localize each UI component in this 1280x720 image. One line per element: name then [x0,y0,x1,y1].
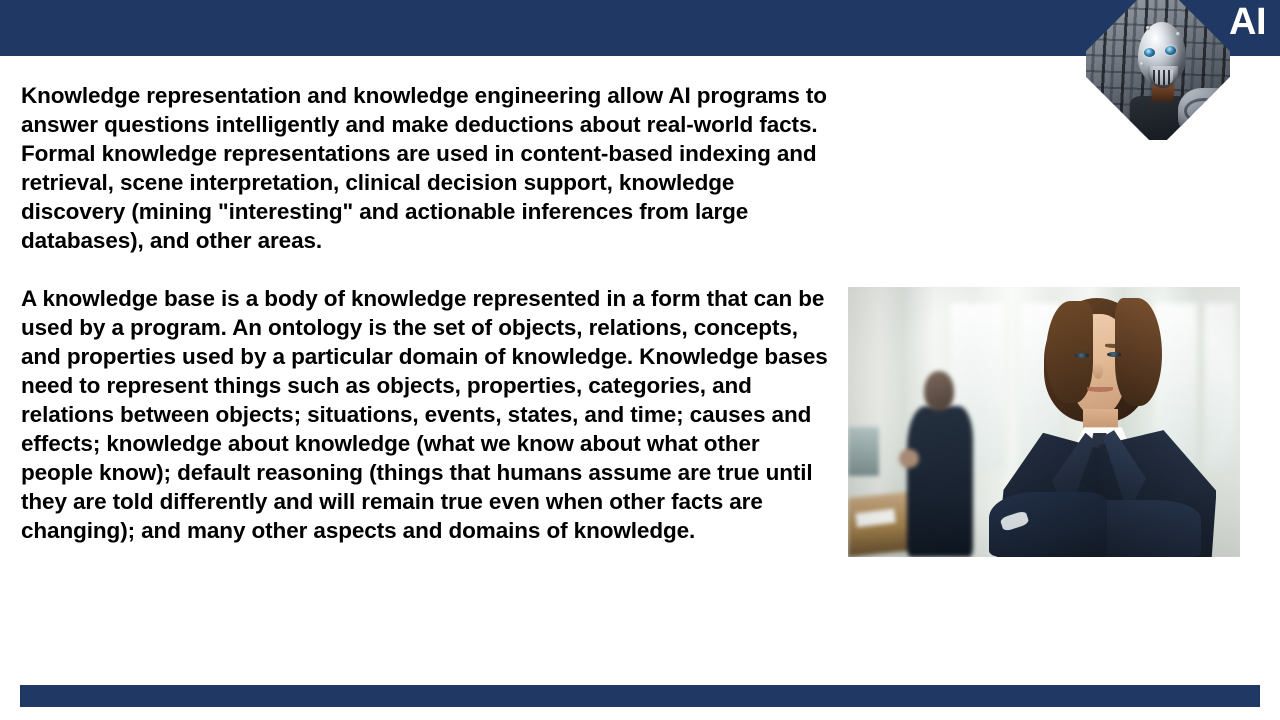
background-person-body [907,406,974,557]
ai-logo-text: AI [1229,2,1266,42]
paragraph-knowledge-representation: Knowledge representation and knowledge e… [21,81,833,255]
background-person-head [924,371,953,412]
woman-eyebrow-right [1105,343,1123,348]
robot-eye-right [1165,46,1176,55]
businesswoman-photo [848,287,1240,557]
paragraph-knowledge-base: A knowledge base is a body of knowledge … [21,284,833,545]
footer-bar [20,685,1260,707]
woman-eye-right [1107,352,1121,357]
background-person-hand [899,449,919,468]
woman-nose [1093,363,1103,379]
robot-bolt [1140,62,1144,66]
slide-body-text: Knowledge representation and knowledge e… [21,81,833,545]
woman-mouth [1087,387,1112,392]
office-monitor [848,427,879,476]
woman-hair-left [1046,301,1093,404]
woman-hair-right [1115,298,1162,406]
robot-eye-left [1144,48,1155,57]
robot-bolt [1176,32,1180,36]
robot-shoulder [1178,88,1230,136]
window-pane [1205,303,1236,470]
robot-bolt [1146,26,1150,30]
